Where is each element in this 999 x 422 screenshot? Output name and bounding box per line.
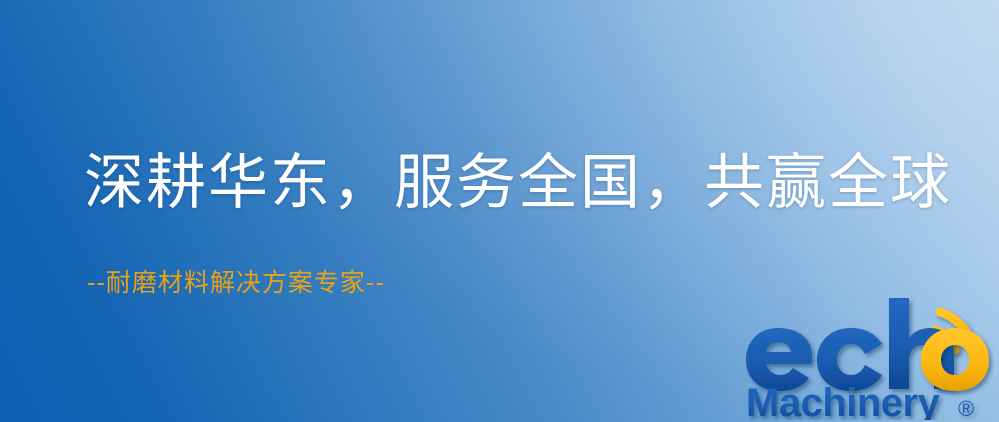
page-title: 深耕华东，服务全国，共赢全球: [84, 152, 952, 215]
page-subtitle: --耐磨材料解决方案专家--: [87, 268, 385, 298]
registered-trademark-icon: ®: [958, 396, 974, 420]
company-logo[interactable]: Machinery ®: [744, 292, 994, 420]
logo-wordmark-ech: [746, 298, 954, 391]
hero-banner: 深耕华东，服务全国，共赢全球 --耐磨材料解决方案专家--: [0, 0, 999, 422]
logo-tagline: Machinery: [746, 381, 941, 420]
